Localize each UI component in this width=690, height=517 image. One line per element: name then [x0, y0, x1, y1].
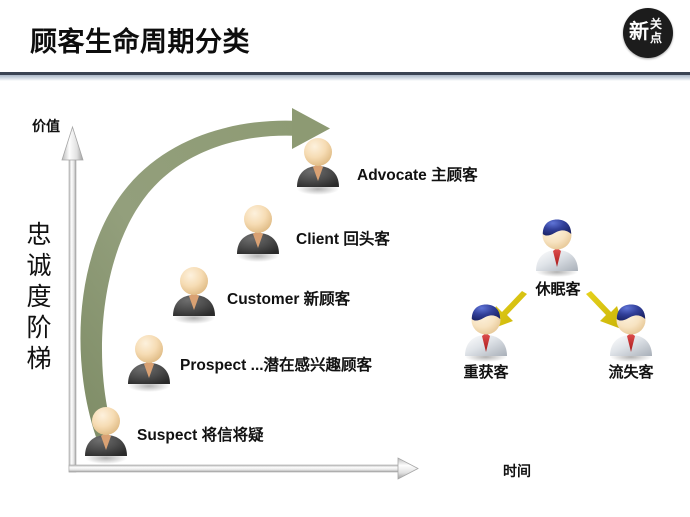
cluster-figure-regained — [459, 300, 513, 362]
ladder-figure-advocate — [292, 133, 344, 195]
stage-label-advocate: Advocate 主顾客 — [357, 163, 478, 185]
slide-canvas: 顾客生命周期分类 新 关 点 价值 时间 忠诚度阶梯 — [0, 0, 690, 517]
loyalty-ladder-caption: 忠诚度阶梯 — [22, 220, 56, 375]
logo-char-top: 关 — [650, 18, 662, 30]
stage-label-client: Client 回头客 — [296, 227, 390, 249]
ladder-figure-customer — [168, 262, 220, 324]
y-axis-label: 价值 — [32, 116, 60, 136]
cluster-figure-dormant — [530, 215, 584, 277]
logo-char-bottom: 点 — [650, 32, 662, 44]
title-divider-light-band — [0, 75, 690, 81]
stage-label-prospect: Prospect ...潜在感兴趣顾客 — [180, 353, 372, 375]
title-divider — [0, 72, 690, 81]
ladder-figure-client — [232, 200, 284, 262]
stage-label-customer: Customer 新顾客 — [227, 287, 350, 309]
cluster-figure-churned — [604, 300, 658, 362]
cluster-label-regained: 重获客 — [461, 361, 511, 382]
ladder-figure-prospect — [123, 330, 175, 392]
brand-logo: 新 关 点 — [623, 8, 673, 58]
x-axis-label: 时间 — [503, 461, 531, 481]
cluster-label-churned: 流失客 — [606, 361, 656, 382]
ladder-figure-suspect — [80, 402, 132, 464]
page-title: 顾客生命周期分类 — [30, 20, 250, 59]
logo-char-main: 新 — [629, 21, 649, 43]
stage-label-suspect: Suspect 将信将疑 — [137, 423, 264, 445]
cluster-label-dormant: 休眠客 — [533, 278, 583, 299]
